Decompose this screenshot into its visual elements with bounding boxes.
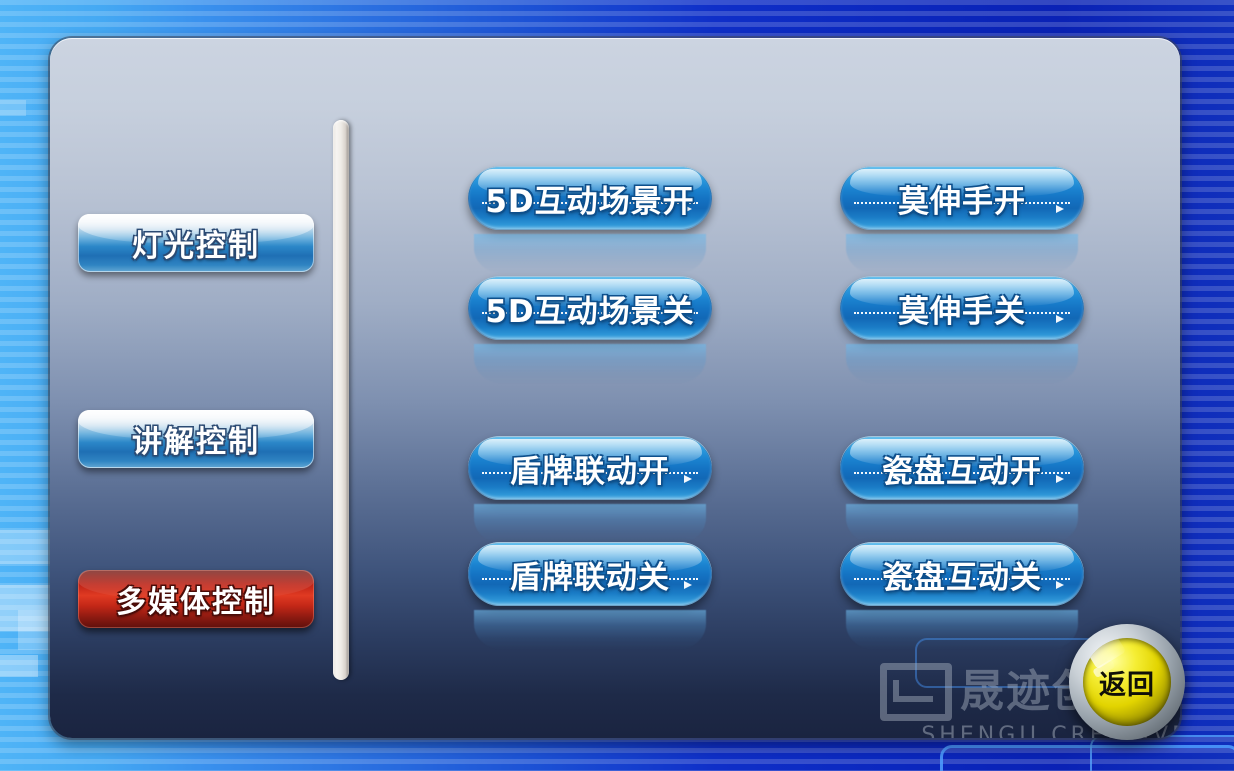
button-reflection — [846, 504, 1078, 544]
button-label: 5D互动场景关 — [485, 286, 694, 331]
grid-cell: 5D互动场景关 — [468, 276, 712, 340]
return-button[interactable]: 返回 — [1069, 624, 1185, 740]
button-label: 瓷盘互动开 — [882, 446, 1042, 491]
button-5d-scene-on[interactable]: 5D互动场景开 — [468, 166, 712, 230]
grid-cell: 莫伸手开 — [840, 166, 1084, 230]
button-mo-shen-shou-on[interactable]: 莫伸手开 — [840, 166, 1084, 230]
return-button-label: 返回 — [1099, 663, 1155, 702]
button-shield-linkage-on[interactable]: 盾牌联动开 — [468, 436, 712, 500]
sidebar-item-label: 讲解控制 — [132, 417, 260, 461]
button-label: 莫伸手开 — [898, 176, 1026, 221]
vertical-divider-rail[interactable] — [333, 120, 349, 680]
button-grid: 5D互动场景开 莫伸手开 5D互动场景关 — [370, 38, 1180, 738]
button-reflection — [474, 344, 706, 384]
screen: 灯光控制 讲解控制 多媒体控制 5D互动场景开 — [0, 0, 1234, 771]
button-label: 瓷盘互动关 — [882, 552, 1042, 597]
button-label: 5D互动场景开 — [485, 176, 694, 221]
return-button-face: 返回 — [1083, 638, 1171, 726]
button-5d-scene-off[interactable]: 5D互动场景关 — [468, 276, 712, 340]
sidebar-item-label: 灯光控制 — [132, 221, 260, 265]
sidebar-item-label: 多媒体控制 — [116, 577, 276, 621]
grid-cell: 莫伸手关 — [840, 276, 1084, 340]
sidebar-item-narration-control[interactable]: 讲解控制 — [78, 410, 314, 468]
sidebar-item-multimedia-control[interactable]: 多媒体控制 — [78, 570, 314, 628]
control-panel: 灯光控制 讲解控制 多媒体控制 5D互动场景开 — [50, 38, 1180, 738]
button-reflection — [846, 610, 1078, 650]
background-decor-arc — [1090, 735, 1234, 771]
button-reflection — [474, 610, 706, 650]
grid-cell: 盾牌联动关 — [468, 542, 712, 606]
button-reflection — [846, 344, 1078, 384]
button-reflection — [846, 234, 1078, 274]
sidebar-item-lighting-control[interactable]: 灯光控制 — [78, 214, 314, 272]
button-label: 盾牌联动开 — [510, 446, 670, 491]
button-reflection — [474, 504, 706, 544]
grid-cell: 瓷盘互动开 — [840, 436, 1084, 500]
grid-cell: 5D互动场景开 — [468, 166, 712, 230]
background-decor-block — [0, 655, 38, 677]
button-porcelain-plate-on[interactable]: 瓷盘互动开 — [840, 436, 1084, 500]
button-shield-linkage-off[interactable]: 盾牌联动关 — [468, 542, 712, 606]
button-reflection — [474, 234, 706, 274]
button-label: 盾牌联动关 — [510, 552, 670, 597]
button-mo-shen-shou-off[interactable]: 莫伸手关 — [840, 276, 1084, 340]
background-decor-block — [0, 100, 26, 116]
background-decor-arc — [940, 745, 1234, 771]
grid-cell: 瓷盘互动关 — [840, 542, 1084, 606]
sidebar: 灯光控制 讲解控制 多媒体控制 — [78, 38, 328, 738]
grid-cell: 盾牌联动开 — [468, 436, 712, 500]
button-porcelain-plate-off[interactable]: 瓷盘互动关 — [840, 542, 1084, 606]
button-label: 莫伸手关 — [898, 286, 1026, 331]
